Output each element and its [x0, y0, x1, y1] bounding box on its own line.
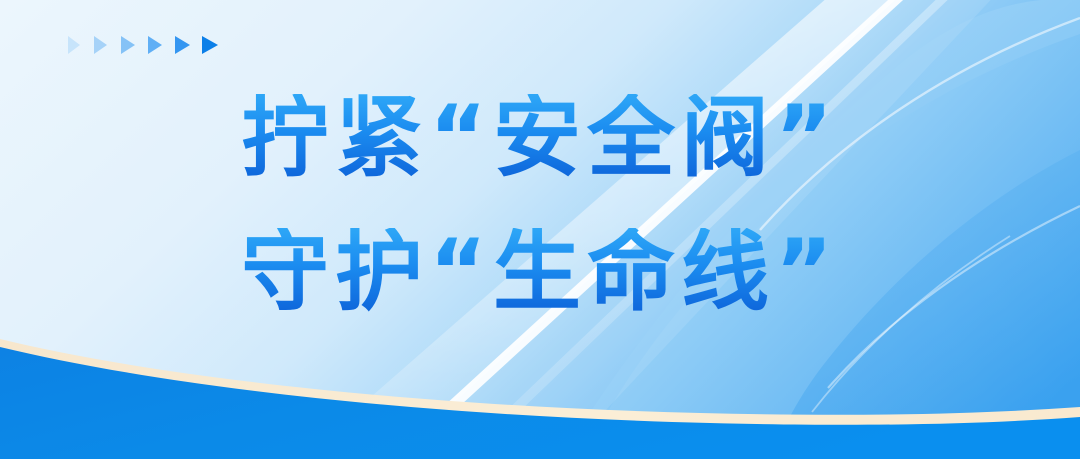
chevron-right-arrow [68, 36, 80, 54]
chevron-right-arrow [202, 36, 218, 54]
arrow-sequence-decor [68, 33, 218, 57]
chevron-right-arrow [94, 36, 107, 54]
chevron-right-arrow [148, 36, 162, 54]
background-artwork [0, 0, 1080, 459]
chevron-right-arrow [175, 36, 190, 54]
chevron-right-arrow [121, 36, 135, 54]
banner-canvas: 拧紧“安全阀” 守护“生命线” [0, 0, 1080, 459]
